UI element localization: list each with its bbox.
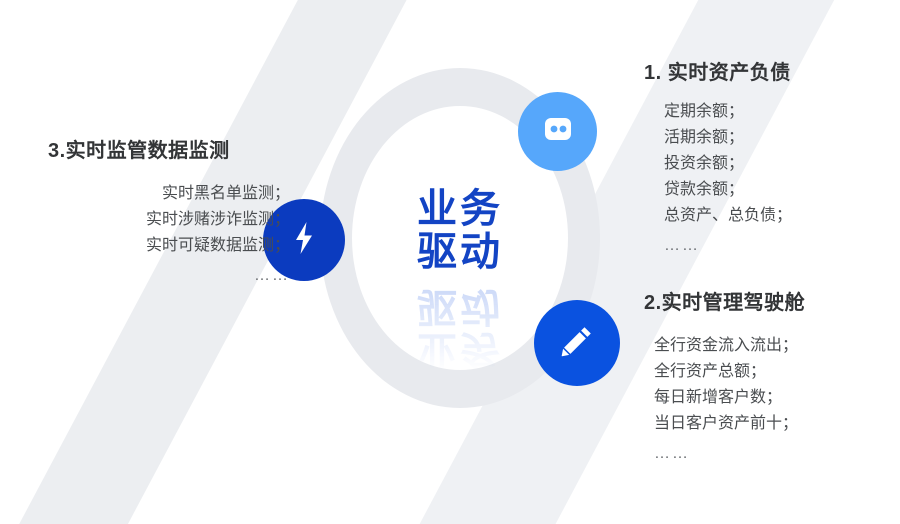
text-block-assets: 1. 实时资产负债 定期余额； 活期余额； 投资余额； 贷款余额； 总资产、总负… [644,56,792,258]
badge-cockpit[interactable] [534,300,620,386]
list-item: 活期余额； [664,125,792,151]
list-item: 当日客户资产前十； [654,411,805,437]
block3-heading: 3.实时监管数据监测 [40,134,290,163]
list-item: 投资余额； [664,151,792,177]
chat-dots-icon [539,110,577,153]
list-item-ellipsis: …… [40,259,290,289]
list-item-ellipsis: …… [654,437,805,467]
block2-list: 全行资金流入流出； 全行资产总额； 每日新增客户数； 当日客户资产前十； …… [644,333,805,467]
list-item: 定期余额； [664,99,792,125]
list-item: 实时涉赌涉诈监测； [40,207,290,233]
list-item: 实时黑名单监测； [40,181,290,207]
list-item: 每日新增客户数； [654,385,805,411]
list-item: 总资产、总负债； [664,203,792,229]
list-item-ellipsis: …… [664,229,792,259]
list-item: 全行资金流入流出； [654,333,805,359]
list-item: 全行资产总额； [654,359,805,385]
list-item: 实时可疑数据监测； [40,233,290,259]
block2-heading: 2.实时管理驾驶舱 [644,286,805,315]
badge-assets[interactable] [518,92,597,171]
pencil-edit-icon [557,321,597,366]
block3-list: 实时黑名单监测； 实时涉赌涉诈监测； 实时可疑数据监测； …… [40,181,290,289]
block1-list: 定期余额； 活期余额； 投资余额； 贷款余额； 总资产、总负债； …… [644,99,792,258]
lightning-bolt-icon [287,219,321,262]
slide-canvas: 业务 驱动 业务 驱动 [0,0,900,524]
block1-heading: 1. 实时资产负债 [644,56,792,85]
list-item: 贷款余额； [664,177,792,203]
text-block-regulatory: 3.实时监管数据监测 实时黑名单监测； 实时涉赌涉诈监测； 实时可疑数据监测； … [40,134,290,289]
text-block-cockpit: 2.实时管理驾驶舱 全行资金流入流出； 全行资产总额； 每日新增客户数； 当日客… [644,286,805,467]
